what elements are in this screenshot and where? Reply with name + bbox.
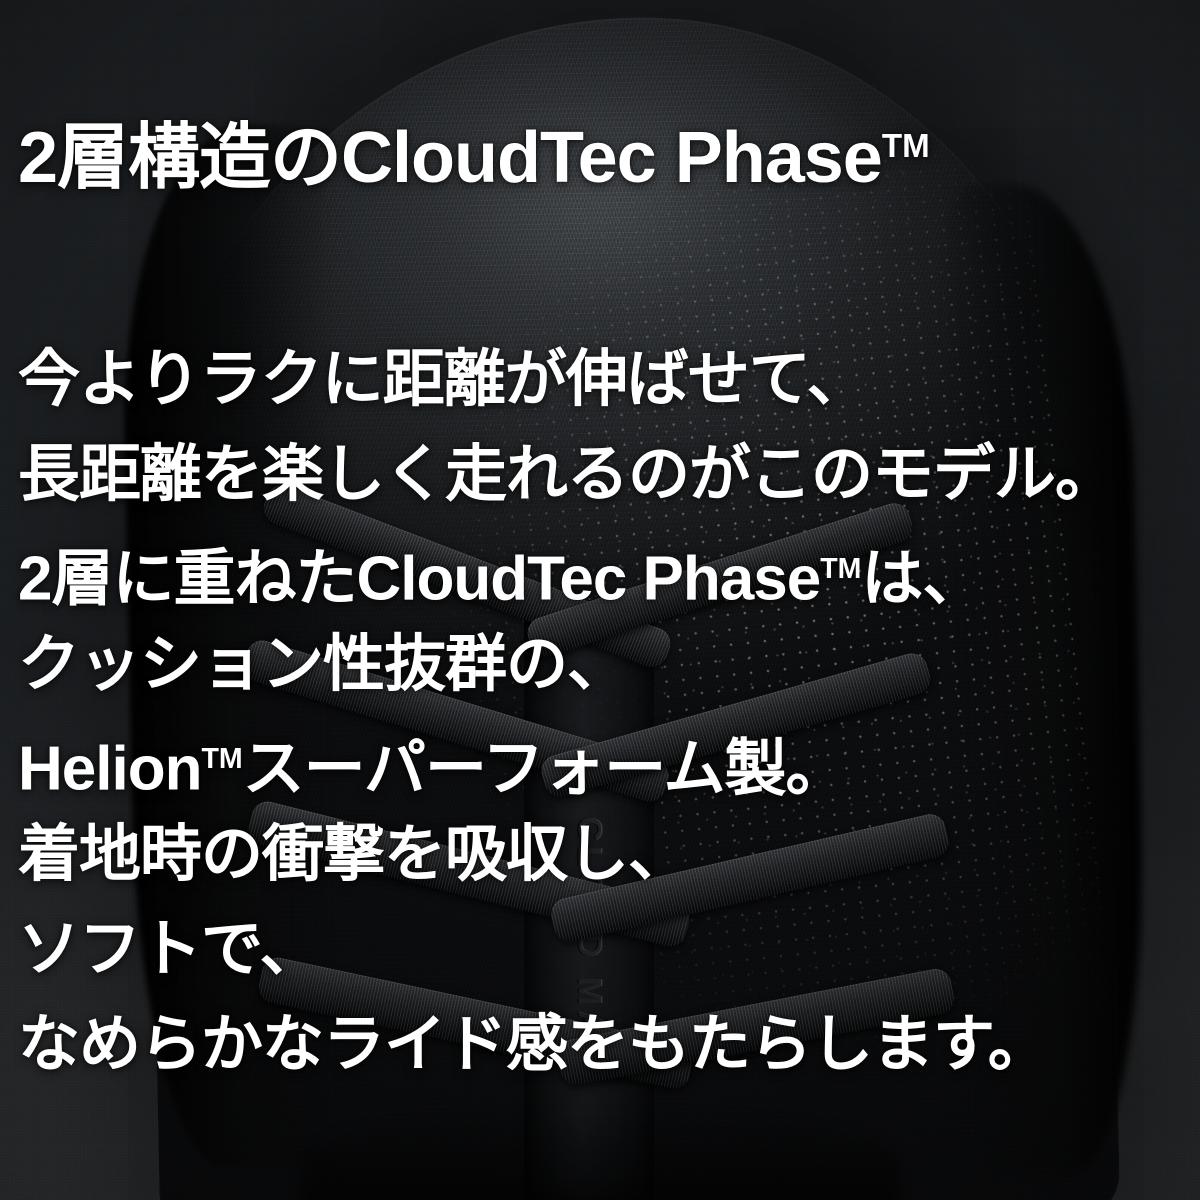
body-line-text: クッション性抜群の、 bbox=[18, 630, 628, 699]
body-line: HelionTMスーパーフォーム製。 bbox=[18, 712, 1188, 807]
body-line-text: 着地時の衝撃を吸収し、 bbox=[18, 820, 689, 889]
body-line-text: 今よりラクに距離が伸ばせて、 bbox=[18, 345, 868, 414]
body-line: クッション性抜群の、 bbox=[18, 617, 1188, 712]
headline-text: 2層構造のCloudTec Phase bbox=[18, 118, 882, 198]
text-overlay: 2層構造のCloudTec PhaseTM 今よりラクに距離が伸ばせて、 長距離… bbox=[0, 0, 1200, 1200]
body-line: 今よりラクに距離が伸ばせて、 bbox=[18, 332, 1188, 427]
promo-graphic: CLOUD MAX 2層構造のCloudTec PhaseTM 今よりラクに距離… bbox=[0, 0, 1200, 1200]
body-line: 長距離を楽しく走れるのがこのモデル。 bbox=[18, 427, 1188, 522]
body-line-tail: スーパーフォーム製。 bbox=[243, 735, 847, 804]
body-line-text: 長距離を楽しく走れるのがこのモデル。 bbox=[18, 440, 1116, 509]
body-copy: 今よりラクに距離が伸ばせて、 長距離を楽しく走れるのがこのモデル。 2層に重ねた… bbox=[18, 332, 1188, 1092]
trademark-symbol: TM bbox=[820, 553, 861, 585]
body-line: 着地時の衝撃を吸収し、 bbox=[18, 807, 1188, 902]
trademark-symbol: TM bbox=[882, 128, 930, 165]
body-line-text: Helion bbox=[18, 735, 201, 804]
body-line-text: 2層に重ねたCloudTec Phase bbox=[18, 545, 820, 614]
body-line-text: なめらかなライド感をもたらします。 bbox=[18, 1010, 1049, 1079]
body-line: ソフトで、 bbox=[18, 902, 1188, 997]
body-line: なめらかなライド感をもたらします。 bbox=[18, 997, 1188, 1092]
body-line-tail: は、 bbox=[861, 545, 983, 614]
page-title: 2層構造のCloudTec PhaseTM bbox=[18, 122, 930, 194]
trademark-symbol: TM bbox=[201, 743, 242, 775]
body-line-text: ソフトで、 bbox=[18, 915, 321, 984]
body-line: 2層に重ねたCloudTec PhaseTMは、 bbox=[18, 522, 1188, 617]
